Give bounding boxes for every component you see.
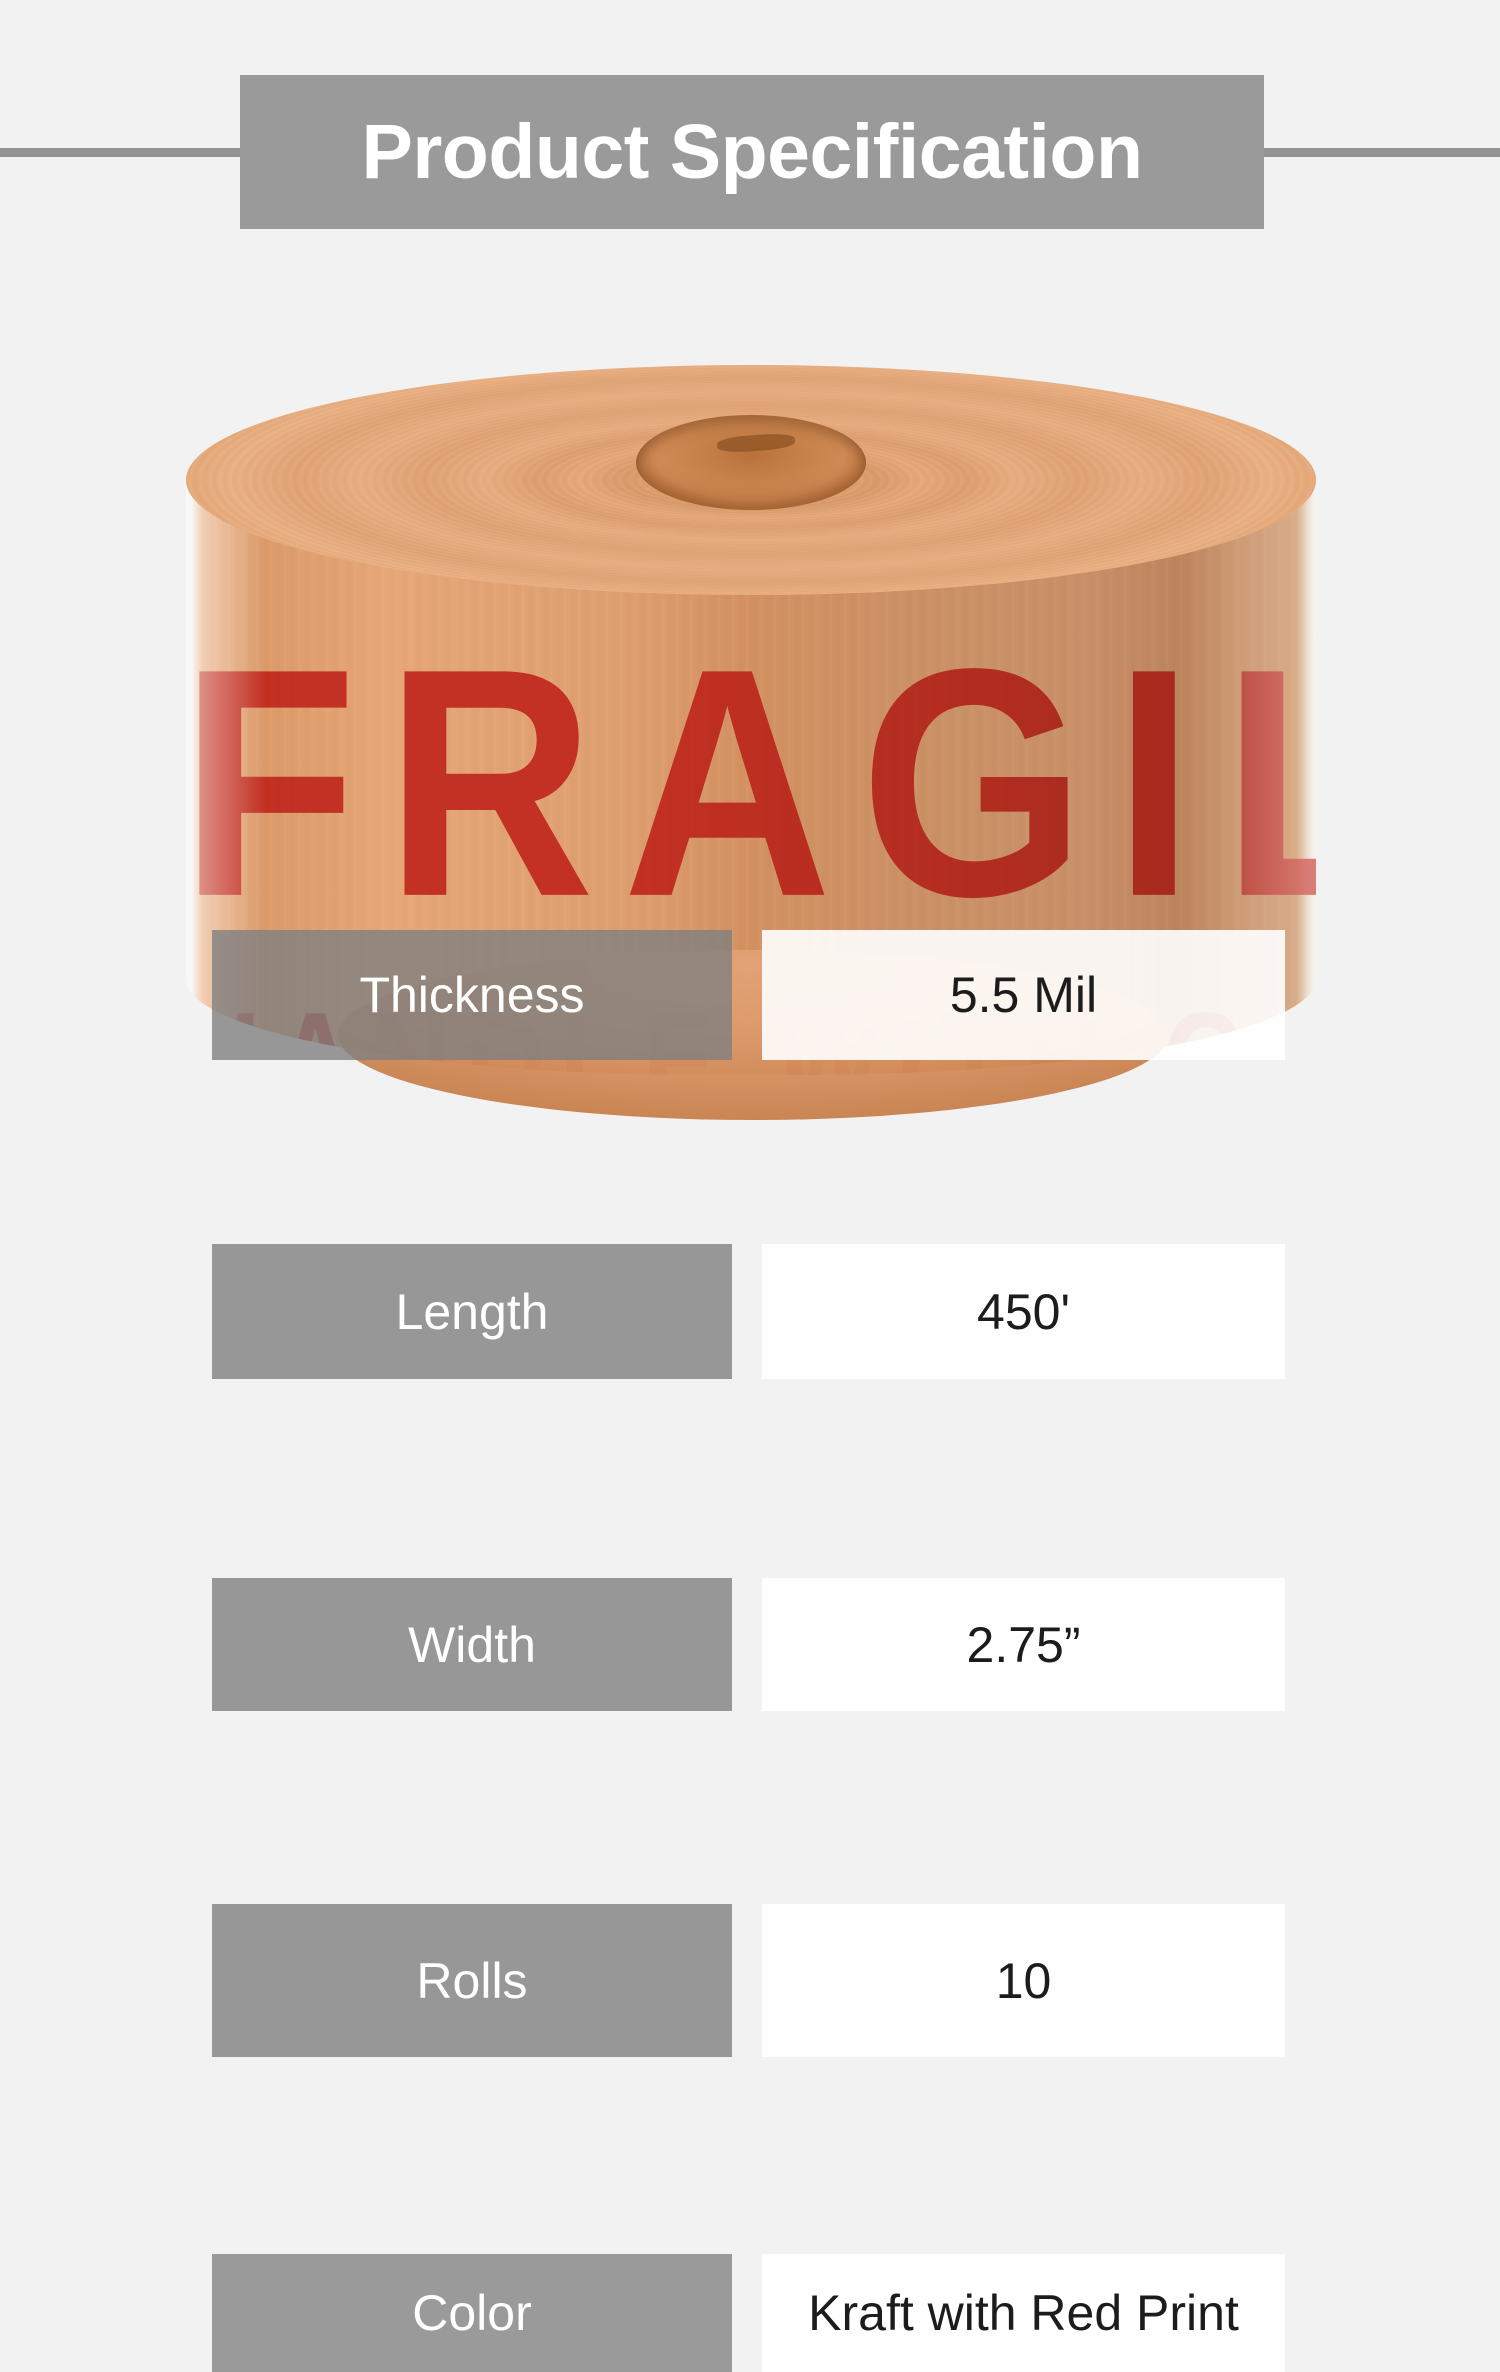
table-row: Rolls 10	[0, 952, 1500, 1105]
spec-label-cell: Length	[212, 1244, 732, 1379]
spec-label-cell: Width	[212, 1578, 732, 1711]
table-row: Width 2.75”	[0, 789, 1500, 922]
table-row: Color Kraft with Red Print	[0, 1127, 1500, 1245]
spec-label-cell: Color	[212, 2254, 732, 2372]
table-row: Length 450'	[0, 622, 1500, 757]
table-row: Thickness 5.5 Mil	[0, 465, 1500, 595]
spec-label-text: Color	[412, 2288, 531, 2338]
spec-value-cell: Kraft with Red Print	[762, 2254, 1285, 2372]
spec-value-text: Kraft with Red Print	[808, 2288, 1239, 2338]
spec-value-cell: 450'	[762, 1244, 1285, 1379]
spec-label-cell: Rolls	[212, 1904, 732, 2057]
spec-label-text: Length	[396, 1287, 549, 1337]
spec-value-text: 10	[996, 1956, 1052, 2006]
spec-value-cell: 10	[762, 1904, 1285, 2057]
poster-canvas: Product Specification FRAGILE HANDLE WIT…	[0, 0, 1500, 1500]
spec-label-text: Width	[408, 1620, 536, 1670]
specification-table: Thickness 5.5 Mil Length 450' Width 2.75…	[0, 0, 1500, 1500]
spec-value-text: 2.75”	[967, 1620, 1081, 1670]
spec-value-cell: 2.75”	[762, 1578, 1285, 1711]
spec-label-text: Rolls	[416, 1956, 527, 2006]
spec-value-text: 450'	[977, 1287, 1070, 1337]
